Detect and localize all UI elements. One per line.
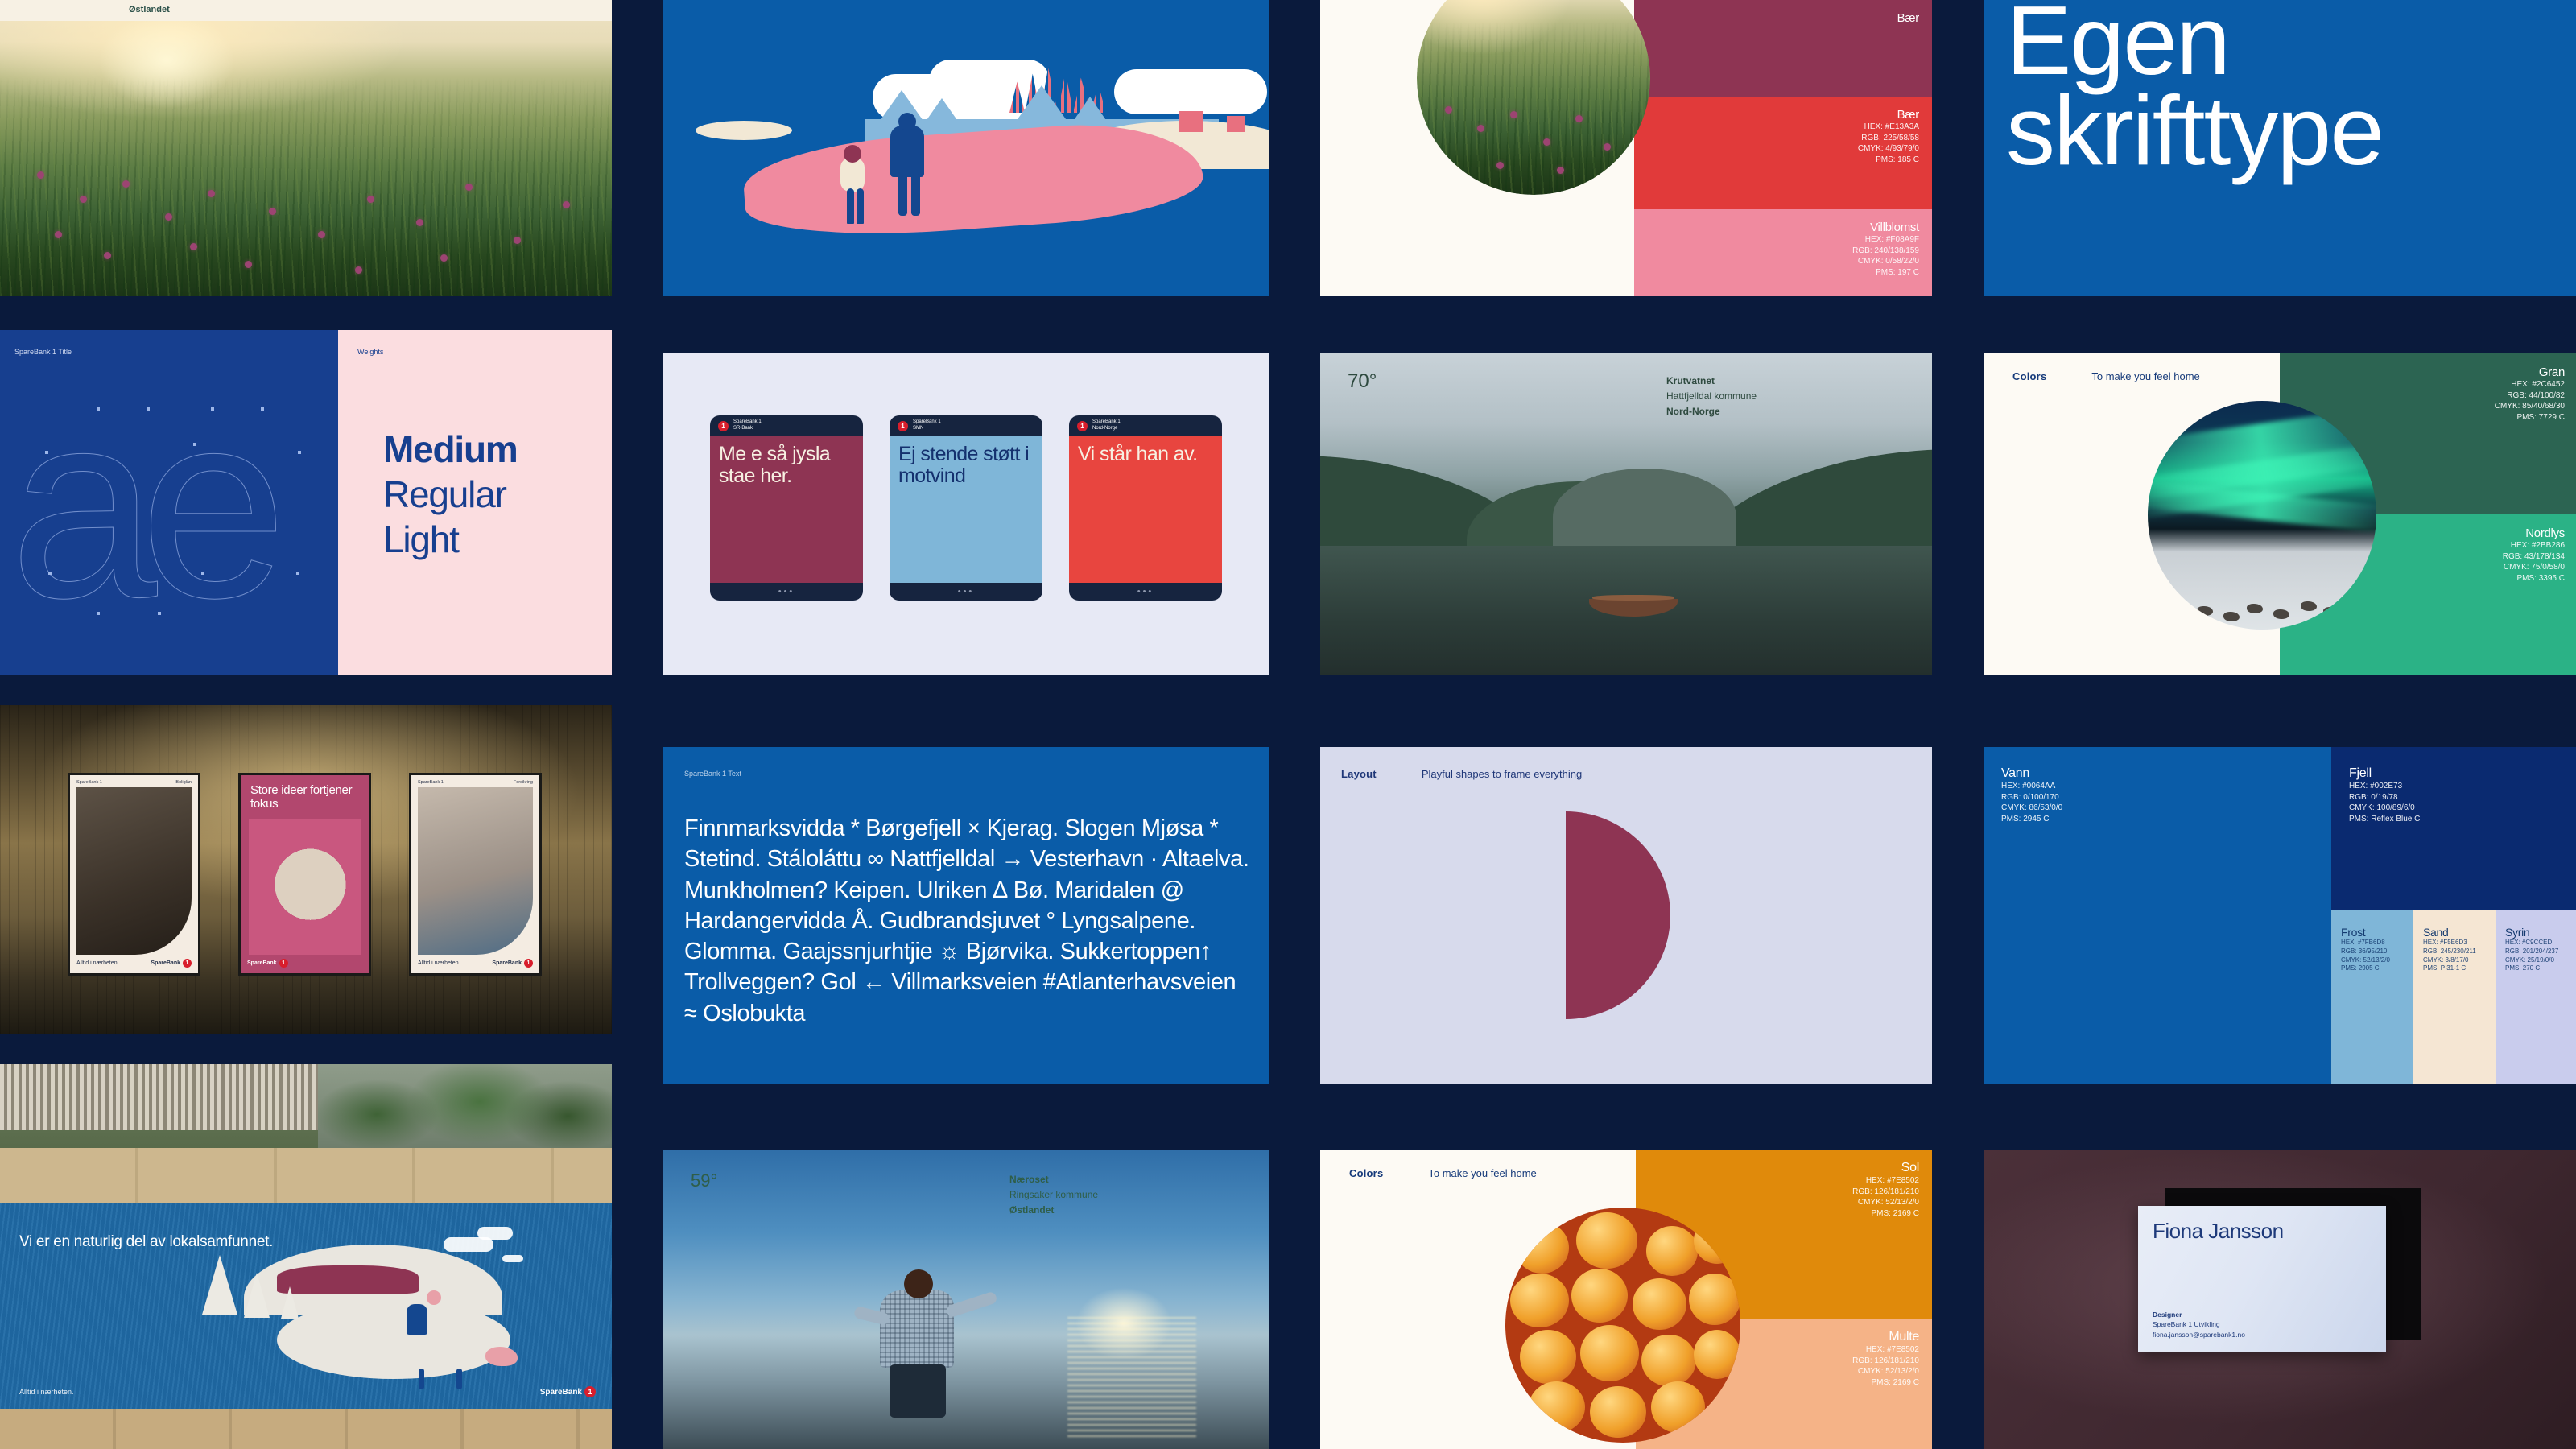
sparebank1-logo: SpareBank 1 bbox=[247, 959, 288, 968]
fisherman-location: Næroset Ringsaker kommune Østlandet bbox=[1009, 1172, 1098, 1219]
weight-regular: Regular bbox=[383, 472, 518, 517]
illustration-canvas bbox=[663, 0, 1269, 296]
poster-image bbox=[418, 787, 533, 955]
weights-list: Medium Regular Light bbox=[383, 427, 518, 562]
swatch-fjell: Fjell HEX: #002E73 RGB: 0/19/78 CMYK: 10… bbox=[2331, 747, 2576, 910]
sparebank1-mark-icon: 1 bbox=[898, 421, 908, 431]
swatch-syrin: Syrin HEX: #C9CCED RGB: 201/204/237 CMYK… bbox=[2495, 910, 2576, 1084]
tile-cloudberry-colors[interactable]: Sol HEX: #7E8502 RGB: 126/181/210 CMYK: … bbox=[1320, 1150, 1932, 1449]
tile-phone-mockups[interactable]: 1 SpareBank 1 SR-Bank Me e så jysla stae… bbox=[663, 353, 1269, 675]
berry-color-stack: Bær Bær HEX: #E13A3A RGB: 225/58/58 CMYK… bbox=[1634, 0, 1932, 296]
swatch-baer: Bær HEX: #E13A3A RGB: 225/58/58 CMYK: 4/… bbox=[1858, 97, 1932, 209]
tile-poster-wall[interactable]: SpareBank 1 Boliglån Alltid i nærheten. … bbox=[0, 705, 612, 1034]
typography-specimen: Egen skrifttype bbox=[2006, 0, 2568, 175]
poster-footer: Alltid i nærheten. SpareBank 1 bbox=[70, 955, 198, 973]
swatch-baer-dark: Bær bbox=[1897, 0, 1932, 97]
layout-subtitle: Playful shapes to frame everything bbox=[1422, 768, 1582, 780]
phone-brand: SpareBank 1 SMN bbox=[913, 419, 941, 432]
poster-header: SpareBank 1 Forsikring bbox=[411, 775, 539, 787]
poster-left[interactable]: SpareBank 1 Boliglån Alltid i nærheten. … bbox=[68, 773, 200, 976]
phone-brand: SpareBank 1 Nord-Norge bbox=[1092, 419, 1121, 432]
tile-glyph-weights[interactable]: SpareBank 1 Title ae Weights Medium Regu… bbox=[0, 330, 612, 675]
tile-illustration[interactable] bbox=[663, 0, 1269, 296]
poster-header: SpareBank 1 Boliglån bbox=[70, 775, 198, 787]
lake-location: Krutvatnet Hattfjelldal kommune Nord-Nor… bbox=[1666, 374, 1757, 420]
phone-home-indicator: ••• bbox=[1069, 583, 1222, 601]
meadow-region-label: Østlandet bbox=[129, 5, 170, 14]
tile-berry-colors[interactable]: Bær Bær HEX: #E13A3A RGB: 225/58/58 CMYK… bbox=[1320, 0, 1932, 296]
berry-photo-circle bbox=[1417, 0, 1650, 195]
aurora-photo-oval bbox=[2148, 401, 2376, 630]
tile-type-specimen-text[interactable]: SpareBank 1 Text Finnmarksvidda * Børgef… bbox=[663, 747, 1269, 1084]
card-details: Designer SpareBank 1 Utvikling fiona.jan… bbox=[2153, 1310, 2245, 1340]
sparebank1-mark-icon: 1 bbox=[584, 1386, 596, 1397]
hoarding-poster: Vi er en naturlig del av lokalsamfunnet.… bbox=[0, 1203, 612, 1409]
tile-layout-shapes[interactable]: Layout Playful shapes to frame everythin… bbox=[1320, 747, 1932, 1084]
tile-construction-hoarding[interactable]: Vi er en naturlig del av lokalsamfunnet.… bbox=[0, 1064, 612, 1449]
phone-message: Vi står han av. bbox=[1069, 436, 1222, 583]
sparebank1-mark-icon: 1 bbox=[279, 959, 288, 968]
colors-subtitle: To make you feel home bbox=[1428, 1167, 1536, 1179]
hoarding-illustration bbox=[185, 1212, 602, 1389]
sparebank1-mark-icon: 1 bbox=[183, 959, 192, 968]
business-card[interactable]: Fiona Jansson Designer SpareBank 1 Utvik… bbox=[2138, 1206, 2386, 1352]
layout-header: Layout Playful shapes to frame everythin… bbox=[1341, 768, 1582, 780]
layout-kicker: Layout bbox=[1341, 768, 1377, 780]
poster-center[interactable]: Store ideer fortjener fokus SpareBank 1 bbox=[238, 773, 371, 976]
phone-mockup[interactable]: 1 SpareBank 1 Nord-Norge Vi står han av.… bbox=[1069, 415, 1222, 601]
tile-meadow-photo[interactable]: Østlandet bbox=[0, 0, 612, 296]
phone-message: Ej stende støtt i motvind bbox=[890, 436, 1042, 583]
swatch-villblomst: Villblomst HEX: #F08A9F RGB: 240/138/159… bbox=[1852, 209, 1932, 296]
tile-lake-photo[interactable]: 70° Krutvatnet Hattfjelldal kommune Nord… bbox=[1320, 353, 1932, 675]
weight-medium: Medium bbox=[383, 427, 518, 472]
glyph-panel-kicker: SpareBank 1 Title bbox=[14, 348, 72, 356]
sparebank1-logo: SpareBank 1 bbox=[492, 959, 533, 968]
specimen-kicker: SpareBank 1 Text bbox=[684, 770, 741, 778]
phone-mockup[interactable]: 1 SpareBank 1 SR-Bank Me e så jysla stae… bbox=[710, 415, 863, 601]
latitude-label: 59° bbox=[691, 1170, 717, 1191]
poster-footer: Alltid i nærheten. SpareBank 1 bbox=[411, 955, 539, 973]
showcase-grid: Østlandet bbox=[0, 0, 2576, 1449]
swatch-frost: Frost HEX: #7FB6D8 RGB: 36/95/210 CMYK: … bbox=[2331, 910, 2413, 1084]
tree-foliage bbox=[318, 1064, 612, 1148]
tile-business-card[interactable]: Fiona Jansson Designer SpareBank 1 Utvik… bbox=[1984, 1150, 2576, 1449]
glyph-panel: SpareBank 1 Title ae bbox=[0, 330, 338, 675]
poster-image bbox=[249, 819, 361, 956]
sparebank1-mark-icon: 1 bbox=[524, 959, 533, 968]
type-line-1: Egen bbox=[2006, 0, 2568, 85]
tile-color-grid[interactable]: Vann HEX: #0064AA RGB: 0/100/170 CMYK: 8… bbox=[1984, 747, 2576, 1084]
poster-right[interactable]: SpareBank 1 Forsikring Alltid i nærheten… bbox=[409, 773, 542, 976]
sparebank1-mark-icon: 1 bbox=[1077, 421, 1088, 431]
tile-typography[interactable]: Egen skrifttype bbox=[1984, 0, 2576, 296]
sparebank1-logo: SpareBank 1 bbox=[151, 959, 192, 968]
hoarding-tagline: Alltid i nærheten. bbox=[19, 1388, 74, 1396]
phone-statusbar: 1 SpareBank 1 SMN bbox=[890, 415, 1042, 436]
poster-image bbox=[76, 787, 192, 955]
sparebank1-logo: SpareBank 1 bbox=[540, 1386, 596, 1397]
half-disc-shape bbox=[1566, 811, 1670, 1019]
colors-kicker: Colors bbox=[2013, 370, 2046, 382]
phone-statusbar: 1 SpareBank 1 SR-Bank bbox=[710, 415, 863, 436]
swatch-vann: Vann HEX: #0064AA RGB: 0/100/170 CMYK: 8… bbox=[1984, 747, 2331, 1084]
weights-panel-kicker: Weights bbox=[357, 348, 383, 356]
phone-home-indicator: ••• bbox=[710, 583, 863, 601]
specimen-body: Finnmarksvidda * Børgefjell × Kjerag. Sl… bbox=[684, 813, 1254, 1029]
card-name: Fiona Jansson bbox=[2153, 1219, 2372, 1244]
latitude-label: 70° bbox=[1348, 370, 1377, 393]
poster-footer: SpareBank 1 bbox=[241, 955, 369, 973]
phone-row: 1 SpareBank 1 SR-Bank Me e så jysla stae… bbox=[663, 415, 1269, 601]
plywood-band bbox=[0, 1148, 612, 1206]
hoarding-backdrop bbox=[0, 1064, 612, 1151]
glyph-outlines: ae bbox=[10, 372, 328, 654]
flower-specks bbox=[0, 0, 612, 296]
colors-kicker: Colors bbox=[1349, 1167, 1383, 1179]
fisherman-figure bbox=[857, 1263, 978, 1416]
weight-light: Light bbox=[383, 517, 518, 562]
phone-statusbar: 1 SpareBank 1 Nord-Norge bbox=[1069, 415, 1222, 436]
meadow-caption-strip: Østlandet bbox=[0, 0, 612, 21]
fence-slats bbox=[0, 1064, 355, 1130]
type-line-2: skrifttype bbox=[2006, 85, 2568, 175]
poster-headline: Store ideer fortjener fokus bbox=[241, 775, 369, 811]
weights-panel: Weights Medium Regular Light bbox=[338, 330, 612, 675]
swatch-sand: Sand HEX: #F5E6D3 RGB: 245/230/211 CMYK:… bbox=[2413, 910, 2495, 1084]
aurora-header: Colors To make you feel home bbox=[2013, 370, 2200, 382]
colors-subtitle: To make you feel home bbox=[2091, 370, 2199, 382]
tile-aurora-colors[interactable]: Gran HEX: #2C6452 RGB: 44/100/82 CMYK: 8… bbox=[1984, 353, 2576, 675]
plywood-floor bbox=[0, 1409, 612, 1449]
phone-home-indicator: ••• bbox=[890, 583, 1042, 601]
phone-mockup[interactable]: 1 SpareBank 1 SMN Ej stende støtt i motv… bbox=[890, 415, 1042, 601]
sparebank1-mark-icon: 1 bbox=[718, 421, 729, 431]
tile-fisherman-photo[interactable]: 59° Næroset Ringsaker kommune Østlandet bbox=[663, 1150, 1269, 1449]
phone-message: Me e så jysla stae her. bbox=[710, 436, 863, 583]
cloudberry-photo-oval bbox=[1505, 1207, 1740, 1443]
sled-dogs bbox=[2166, 563, 2359, 623]
water-glint bbox=[1067, 1317, 1196, 1438]
phone-brand: SpareBank 1 SR-Bank bbox=[733, 419, 762, 432]
cloudberry-header: Colors To make you feel home bbox=[1349, 1167, 1537, 1179]
